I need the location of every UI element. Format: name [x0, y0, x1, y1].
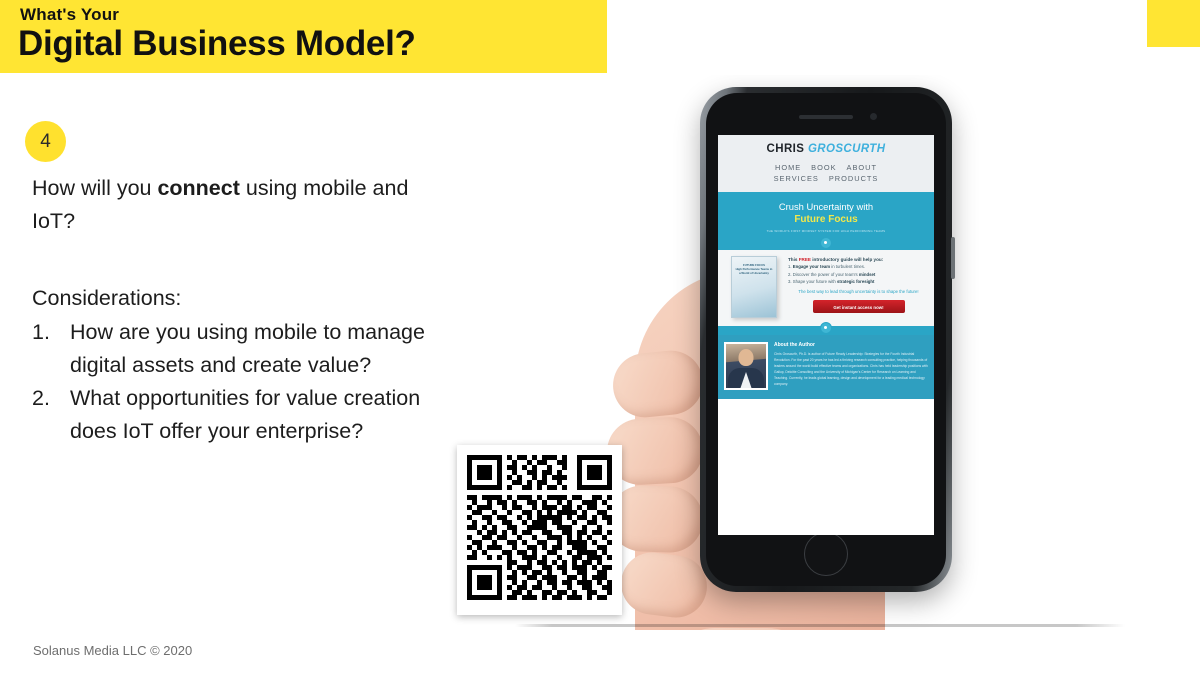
- site-nav-row-2: SERVICESPRODUCTS: [718, 173, 934, 184]
- site-logo-second: GROSCURTH: [808, 143, 886, 155]
- list-item: 1. How are you using mobile to manage di…: [32, 316, 452, 381]
- list-marker: 1.: [32, 316, 58, 349]
- guide-bullet-post: in turbulent times.: [830, 264, 865, 269]
- website-header: CHRIS GROSCURTH HOMEBOOKABOUT SERVICESPR…: [718, 135, 934, 192]
- lead-emphasis: connect: [157, 176, 239, 200]
- considerations-label: Considerations:: [32, 286, 181, 311]
- guide-bullet-num: 3.: [788, 279, 792, 284]
- site-nav: HOMEBOOKABOUT SERVICESPRODUCTS: [718, 162, 934, 185]
- nav-item-services[interactable]: SERVICES: [774, 174, 819, 183]
- nav-item-book[interactable]: BOOK: [811, 163, 836, 172]
- lead-question: How will you connect using mobile and Io…: [32, 172, 432, 237]
- list-item: 2. What opportunities for value creation…: [32, 382, 452, 447]
- home-button[interactable]: [804, 532, 848, 576]
- considerations-list: 1. How are you using mobile to manage di…: [32, 316, 452, 449]
- phone-screen[interactable]: CHRIS GROSCURTH HOMEBOOKABOUT SERVICESPR…: [718, 135, 934, 535]
- site-nav-row-1: HOMEBOOKABOUT: [718, 162, 934, 173]
- author-face: [739, 349, 754, 366]
- list-item-text: How are you using mobile to manage digit…: [70, 320, 425, 377]
- site-logo-first: CHRIS: [767, 143, 808, 155]
- qr-code[interactable]: [457, 445, 622, 615]
- guide-intro-free: FREE: [799, 257, 811, 262]
- list-item-text: What opportunities for value creation do…: [70, 386, 420, 443]
- guide-intro-post: introductory guide will help you:: [811, 257, 883, 262]
- page-title: Digital Business Model?: [18, 24, 416, 64]
- section-divider-badge-top: [718, 241, 934, 250]
- hero-line-2: Future Focus: [724, 214, 928, 225]
- power-button[interactable]: [951, 237, 955, 279]
- circle-dot-icon: [820, 322, 832, 334]
- lead-part1: How will you: [32, 176, 157, 200]
- guide-bullet-num: 2.: [788, 272, 792, 277]
- nav-item-home[interactable]: HOME: [775, 163, 801, 172]
- guide-bullet-bold: Engage your team: [793, 264, 830, 269]
- author-heading: About the Author: [774, 342, 928, 348]
- site-logo: CHRIS GROSCURTH: [718, 143, 934, 155]
- guide-bullet-bold: mindset: [859, 272, 875, 277]
- nav-item-about[interactable]: ABOUT: [847, 163, 877, 172]
- book-cover: FUTURE FOCUS High Performance Teams in a…: [731, 256, 777, 318]
- header-eyebrow: What's Your: [20, 6, 119, 23]
- get-instant-access-button[interactable]: Get instant access now!: [813, 300, 905, 313]
- guide-closing: The best way to lead through uncertainty…: [788, 288, 929, 295]
- website-footer: [718, 399, 934, 417]
- book-cover-text: FUTURE FOCUS High Performance Teams in a…: [735, 263, 773, 276]
- corner-accent-block: [1147, 0, 1200, 47]
- hero-line-1: Crush Uncertainty with: [724, 201, 928, 212]
- guide-bullet: 1. Engage your team in turbulent times.: [788, 263, 929, 271]
- guide-bullet: 3. Shape your future with strategic fore…: [788, 278, 929, 286]
- author-section: About the Author Chris Groscurth, Ph.D. …: [718, 335, 934, 399]
- front-camera-icon: [870, 113, 877, 120]
- guide-intro-pre: This: [788, 257, 799, 262]
- section-divider-badge-bottom: [718, 326, 934, 335]
- author-photo: [724, 342, 768, 390]
- website-hero: Crush Uncertainty with Future Focus THE …: [718, 192, 934, 241]
- list-marker: 2.: [32, 382, 58, 415]
- nav-item-products[interactable]: PRODUCTS: [829, 174, 878, 183]
- book-cover-subtitle: High Performance Teams in a World of Unc…: [735, 267, 773, 275]
- earpiece-speaker-icon: [799, 115, 853, 119]
- qr-code-svg: [467, 455, 612, 600]
- guide-bullet-pre: Discover the power of your team's: [793, 272, 859, 277]
- author-bio: Chris Groscurth, Ph.D. is author of Futu…: [774, 351, 928, 388]
- guide-bullet: 2. Discover the power of your team's min…: [788, 271, 929, 279]
- step-number-badge: 4: [25, 121, 66, 162]
- guide-intro: This FREE introductory guide will help y…: [788, 256, 929, 263]
- author-copy: About the Author Chris Groscurth, Ph.D. …: [768, 342, 928, 390]
- guide-bullet-bold: strategic foresight: [837, 279, 875, 284]
- guide-bullet-num: 1.: [788, 264, 792, 269]
- slide-root: { "slide": { "header": { "eyebrow": "Wha…: [0, 0, 1200, 675]
- surface-shadow-line: [515, 624, 1125, 627]
- book-thumbnail: FUTURE FOCUS High Performance Teams in a…: [723, 256, 785, 318]
- circle-dot-icon: [820, 237, 832, 249]
- smartphone-device: CHRIS GROSCURTH HOMEBOOKABOUT SERVICESPR…: [700, 87, 952, 592]
- hero-subtitle: THE WORLD'S FIRST MINDSET SYSTEM FOR HIG…: [724, 229, 928, 233]
- guide-section: FUTURE FOCUS High Performance Teams in a…: [718, 250, 934, 326]
- step-number-label: 4: [40, 131, 51, 153]
- guide-copy: This FREE introductory guide will help y…: [785, 256, 929, 318]
- finger: [608, 484, 704, 553]
- copyright-footer: Solanus Media LLC © 2020: [33, 643, 192, 658]
- guide-bullet-pre: Shape your future with: [793, 279, 837, 284]
